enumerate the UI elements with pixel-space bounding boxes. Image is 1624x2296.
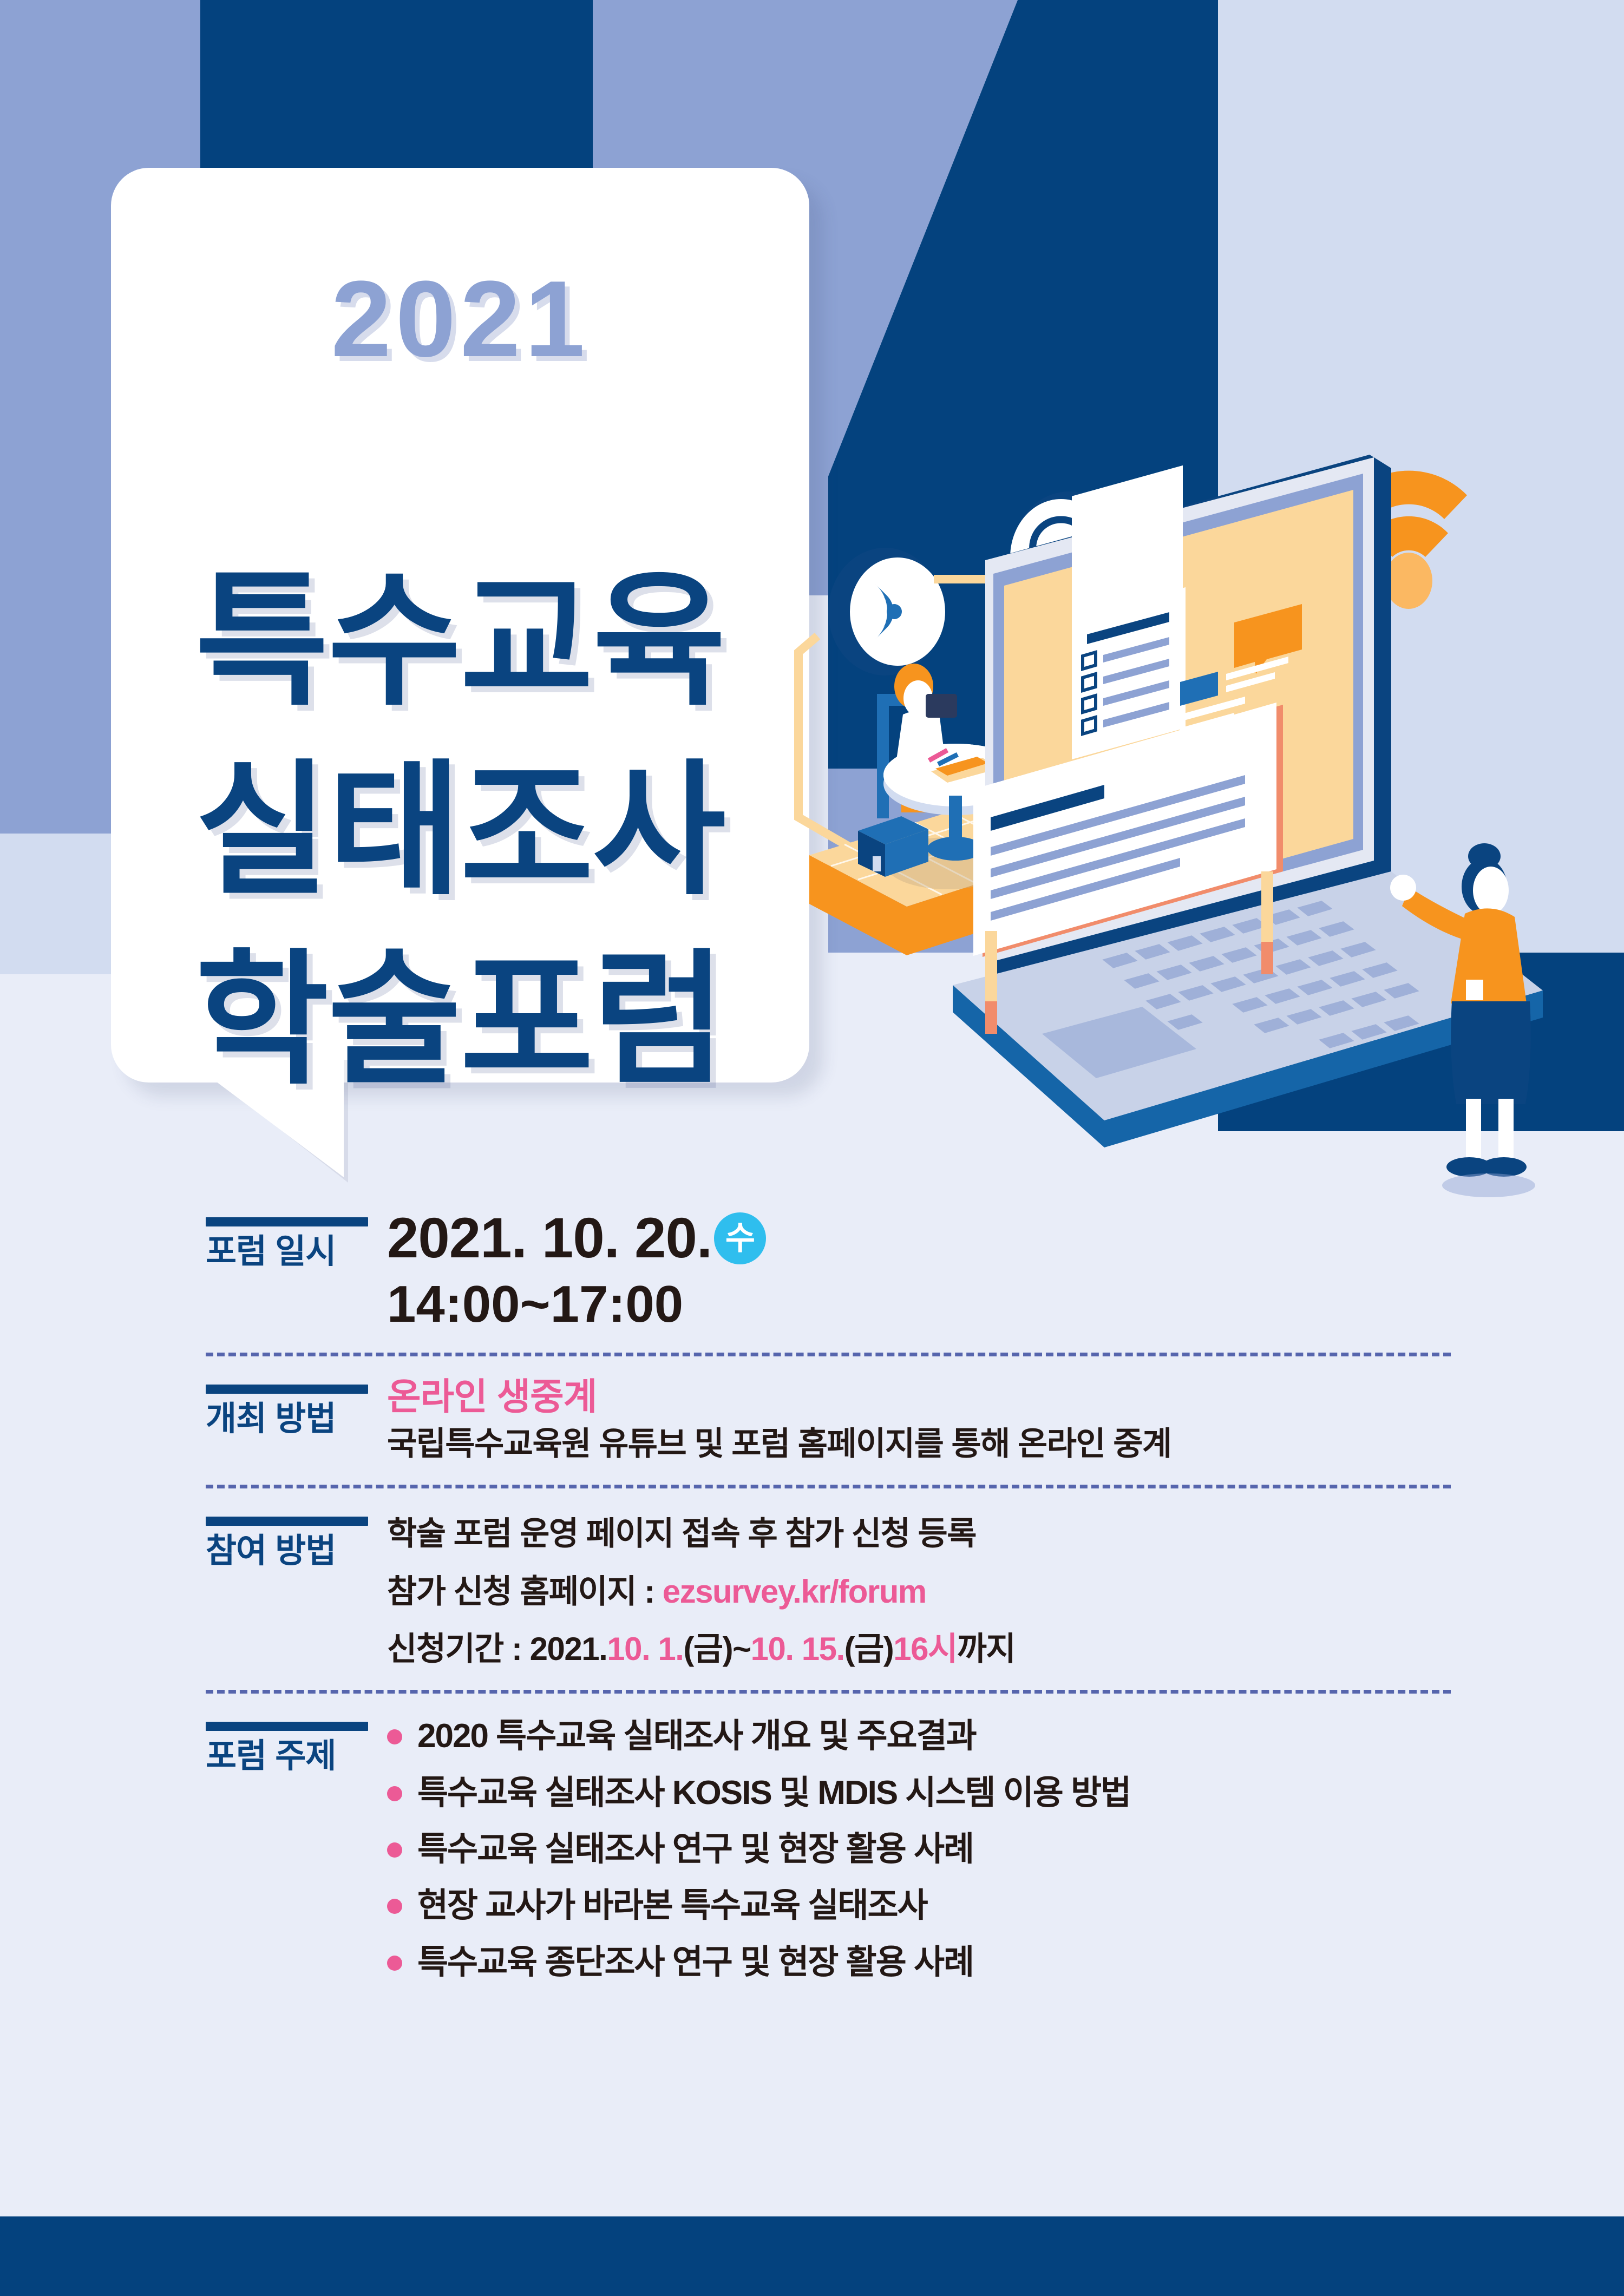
label-accent-bar	[206, 1385, 368, 1394]
isometric-illustration	[769, 444, 1624, 1234]
hosting-detail: 국립특수교육원 유튜브 및 포럼 홈페이지를 통해 온라인 중계	[387, 1423, 1451, 1465]
label-text: 개최 방법	[206, 1401, 387, 1436]
label-text: 포럼 주제	[206, 1739, 387, 1774]
topic-text: 특수교육 실태조사 연구 및 현장 활용 사례	[417, 1829, 973, 1869]
list-item: 2020 특수교육 실태조사 개요 및 주요결과	[387, 1716, 1451, 1756]
forum-time: 14:00~17:00	[387, 1276, 1451, 1333]
divider-3	[206, 1690, 1451, 1694]
forum-date: 2021. 10. 20.	[387, 1209, 712, 1268]
list-item: 특수교육 실태조사 연구 및 현장 활용 사례	[387, 1829, 1451, 1869]
list-item: 특수교육 실태조사 KOSIS 및 MDIS 시스템 이용 방법	[387, 1773, 1451, 1813]
content-participation-method: 학술 포럼 운영 페이지 접속 후 참가 신청 등록 참가 신청 홈페이지 : …	[387, 1498, 1451, 1670]
label-forum-topics: 포럼 주제	[206, 1703, 387, 1774]
title-line-2: 실태조사	[111, 758, 809, 903]
participation-line-3: 신청기간 : 2021.10. 1.(금)~10. 15.(금)16시까지	[387, 1629, 1451, 1670]
title-line-3: 학술포럼	[111, 947, 809, 1092]
period-end-day: (금)	[844, 1631, 894, 1667]
section-forum-topics: 포럼 주제 2020 특수교육 실태조사 개요 및 주요결과 특수교육 실태조사…	[206, 1703, 1451, 1999]
topic-text: 현장 교사가 바라본 특수교육 실태조사	[417, 1886, 927, 1926]
section-participation-method: 참여 방법 학술 포럼 운영 페이지 접속 후 참가 신청 등록 참가 신청 홈…	[206, 1498, 1451, 1670]
topic-text: 특수교육 실태조사 KOSIS 및 MDIS 시스템 이용 방법	[417, 1773, 1130, 1813]
content-forum-topics: 2020 특수교육 실태조사 개요 및 주요결과 특수교육 실태조사 KOSIS…	[387, 1707, 1451, 1999]
hosting-headline: 온라인 생중계	[387, 1376, 1451, 1418]
section-hosting-method: 개최 방법 온라인 생중계 국립특수교육원 유튜브 및 포럼 홈페이지를 통해 …	[206, 1366, 1451, 1465]
divider-1	[206, 1353, 1451, 1356]
content-forum-datetime: 2021. 10. 20. 수 14:00~17:00	[387, 1199, 1451, 1333]
label-accent-bar	[206, 1722, 368, 1731]
title-speech-bubble: 2021 특수교육 실태조사 학술포럼	[111, 168, 809, 1099]
label-participation-method: 참여 방법	[206, 1498, 387, 1569]
label-hosting-method: 개최 방법	[206, 1366, 387, 1436]
poster-root: 2021 특수교육 실태조사 학술포럼	[0, 0, 1624, 2296]
bullet-icon	[387, 1956, 402, 1971]
bullet-icon	[387, 1729, 402, 1744]
label-text: 포럼 일시	[206, 1234, 387, 1269]
period-hour: 16시	[893, 1631, 957, 1667]
label-accent-bar	[206, 1517, 368, 1526]
label-text: 참여 방법	[206, 1533, 387, 1569]
footer-bar	[0, 2216, 1624, 2296]
registration-url[interactable]: ezsurvey.kr/forum	[663, 1573, 926, 1610]
period-start: 10. 1.	[607, 1631, 683, 1667]
info-block: 포럼 일시 2021. 10. 20. 수 14:00~17:00 개최 방법 …	[206, 1199, 1451, 1999]
title-year: 2021	[111, 265, 809, 373]
participation-line-2: 참가 신청 홈페이지 : ezsurvey.kr/forum	[387, 1571, 1451, 1613]
registration-site-label: 참가 신청 홈페이지 :	[387, 1573, 663, 1610]
title-line-1: 특수교육	[111, 568, 809, 713]
bullet-icon	[387, 1842, 402, 1858]
bullet-icon	[387, 1786, 402, 1801]
divider-2	[206, 1485, 1451, 1488]
period-end: 10. 15.	[751, 1631, 844, 1667]
section-forum-datetime: 포럼 일시 2021. 10. 20. 수 14:00~17:00	[206, 1199, 1451, 1333]
period-suffix: 까지	[957, 1631, 1015, 1667]
wifi-dish-icon	[828, 548, 945, 675]
topic-text: 특수교육 종단조사 연구 및 현장 활용 사례	[417, 1943, 973, 1983]
topic-text: 2020 특수교육 실태조사 개요 및 주요결과	[417, 1716, 976, 1756]
label-accent-bar	[206, 1217, 368, 1226]
period-start-day: (금)	[683, 1631, 732, 1667]
forum-date-row: 2021. 10. 20. 수	[387, 1209, 1451, 1268]
bullet-icon	[387, 1899, 402, 1914]
label-forum-datetime: 포럼 일시	[206, 1199, 387, 1269]
list-item: 특수교육 종단조사 연구 및 현장 활용 사례	[387, 1943, 1451, 1983]
content-hosting-method: 온라인 생중계 국립특수교육원 유튜브 및 포럼 홈페이지를 통해 온라인 중계	[387, 1366, 1451, 1465]
participation-line-1: 학술 포럼 운영 페이지 접속 후 참가 신청 등록	[387, 1513, 1451, 1555]
list-item: 현장 교사가 바라본 특수교육 실태조사	[387, 1886, 1451, 1926]
period-tilde: ~	[732, 1631, 751, 1667]
period-prefix: 신청기간 : 2021.	[387, 1631, 607, 1667]
day-of-week-badge: 수	[714, 1212, 766, 1264]
